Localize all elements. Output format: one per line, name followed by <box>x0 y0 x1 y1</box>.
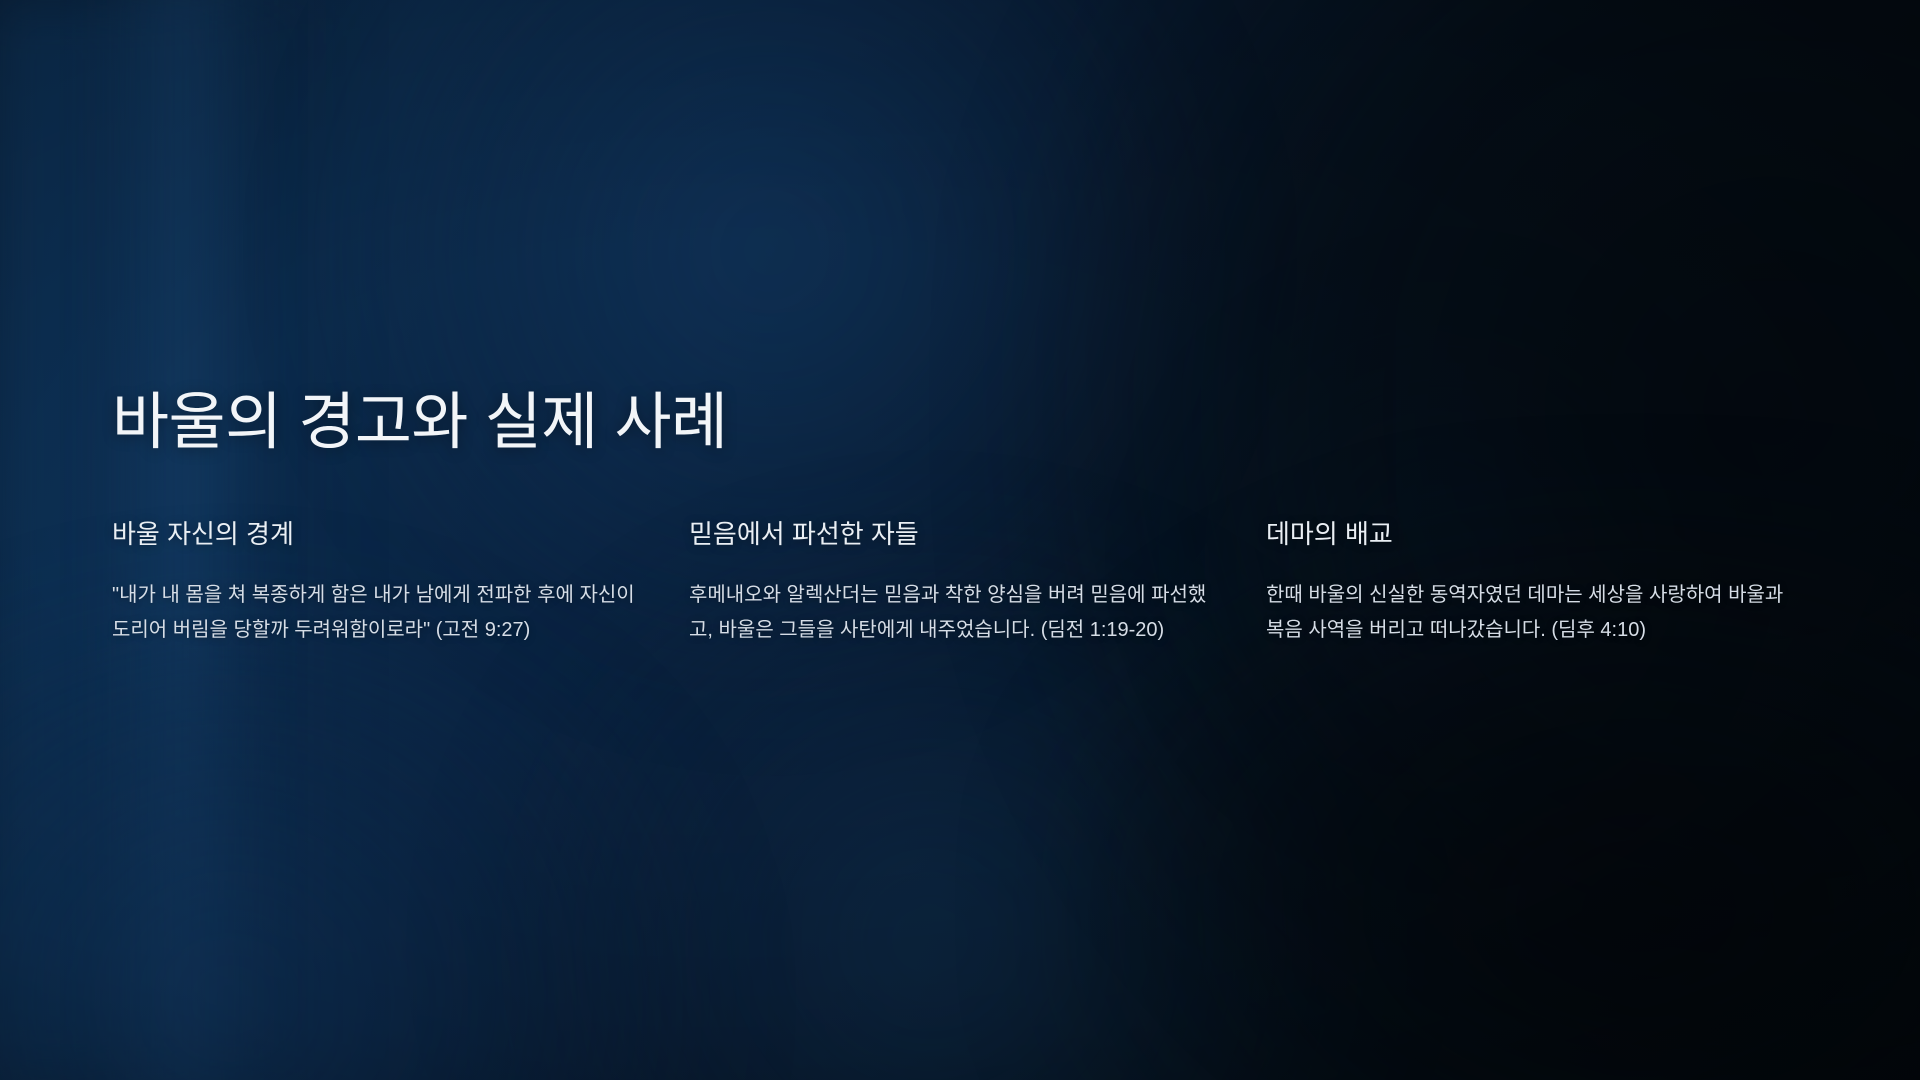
column-body-text: "내가 내 몸을 쳐 복종하게 함은 내가 남에게 전파한 후에 자신이 도리어… <box>112 578 642 649</box>
slide-content: 바울의 경고와 실제 사례 바울 자신의 경계 "내가 내 몸을 쳐 복종하게 … <box>0 0 1920 1080</box>
page-title: 바울의 경고와 실제 사례 <box>112 386 728 459</box>
column-heading: 바울 자신의 경계 <box>112 518 657 552</box>
column-body-text: 후메내오와 알렉산더는 믿음과 착한 양심을 버려 믿음에 파선했고, 바울은 … <box>689 578 1219 649</box>
column-body-text: 한때 바울의 신실한 동역자였던 데마는 세상을 사랑하여 바울과 복음 사역을… <box>1266 578 1796 649</box>
column-demas-apostasy: 데마의 배교 한때 바울의 신실한 동역자였던 데마는 세상을 사랑하여 바울과… <box>1266 518 1811 649</box>
column-heading: 데마의 배교 <box>1266 518 1811 552</box>
presentation-slide: 바울의 경고와 실제 사례 바울 자신의 경계 "내가 내 몸을 쳐 복종하게 … <box>0 0 1920 1080</box>
column-heading: 믿음에서 파선한 자들 <box>689 518 1234 552</box>
columns-container: 바울 자신의 경계 "내가 내 몸을 쳐 복종하게 함은 내가 남에게 전파한 … <box>112 518 1812 649</box>
column-paul-self-discipline: 바울 자신의 경계 "내가 내 몸을 쳐 복종하게 함은 내가 남에게 전파한 … <box>112 518 657 649</box>
column-shipwrecked-faith: 믿음에서 파선한 자들 후메내오와 알렉산더는 믿음과 착한 양심을 버려 믿음… <box>689 518 1234 649</box>
